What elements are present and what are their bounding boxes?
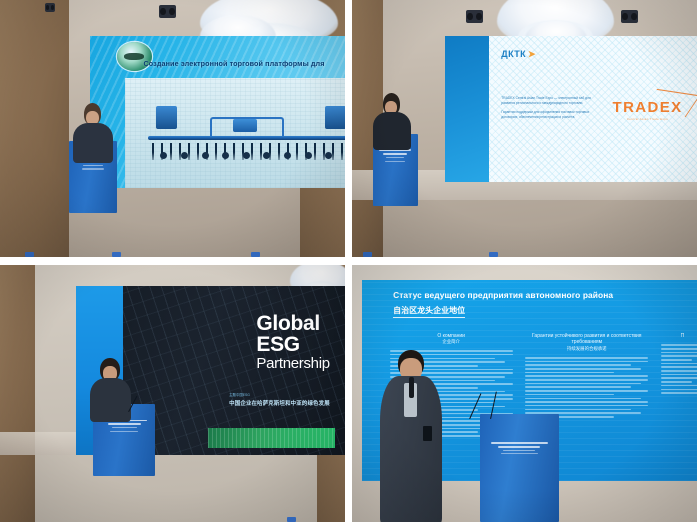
- column-heading-cn: 企业简介: [390, 339, 513, 345]
- screen-side-panel: [445, 36, 488, 182]
- slide-accent-bar: [208, 428, 335, 448]
- podium-plate: [102, 420, 147, 444]
- subtitle-small-cn: 主题中国ESG: [229, 392, 330, 397]
- wood-wall-panel-left: [0, 0, 69, 257]
- tradex-brand: TRADEX Central Asian Trade Expo: [613, 100, 683, 121]
- slide-title-cn: 自治区龙头企业地位: [393, 305, 465, 318]
- slide-subtitle: 主题中国ESG 中国企业在哈萨克斯坦和中亚的绿色发展: [229, 392, 330, 407]
- presentation-screen: ДКТК➤ TRADEX Central Asian Trade Expo — …: [445, 36, 697, 182]
- column-body-text: [525, 357, 648, 418]
- tradex-wordmark: TRADEX: [613, 100, 683, 115]
- dktk-logo-text: ДКТК: [501, 49, 526, 59]
- dktk-logo: ДКТК➤: [501, 49, 536, 60]
- speaker-box-icon: [159, 5, 176, 18]
- panel-bottom-left: Global ESG Partnership 主题中国ESG 中国企业在哈萨克斯…: [0, 265, 345, 522]
- slide-column: П: [661, 333, 697, 477]
- machine-toolbar: [148, 136, 345, 141]
- speaker-person: [90, 358, 131, 415]
- photo-collage: Создание электронной торговой платформы …: [0, 0, 697, 522]
- slide-title-ru: Статус ведущего предприятия автономного …: [393, 290, 697, 300]
- podium-plate: [491, 442, 548, 470]
- slide-body-line2: Гарантии поддержки для оформления постав…: [501, 110, 593, 120]
- speaker-person: [72, 103, 113, 160]
- panel-bottom-right: Статус ведущего предприятия автономного …: [352, 265, 697, 522]
- slide-body: TRADEX Central Asian Trade Expo — электр…: [501, 96, 593, 124]
- speaker-person: [373, 93, 411, 144]
- column-heading: П: [661, 333, 697, 340]
- podium-plate: [379, 149, 411, 173]
- handheld-microphone-icon: [409, 377, 413, 398]
- column-heading-ru: П: [681, 333, 685, 339]
- speaker-person: [380, 350, 442, 522]
- slide-body-line1: TRADEX Central Asian Trade Expo — электр…: [501, 96, 593, 106]
- panel-top-right: ДКТК➤ TRADEX Central Asian Trade Expo — …: [352, 0, 697, 257]
- speaker-box-icon: [45, 3, 55, 12]
- headline-line-1: Global: [256, 313, 329, 334]
- machine-hub: [233, 119, 258, 132]
- phone-icon: [423, 426, 432, 441]
- speaker-box-icon: [621, 10, 638, 23]
- column-heading: О компании 企业简介: [390, 333, 513, 346]
- column-body-text: [661, 344, 697, 394]
- slide-photo-field: [125, 78, 345, 187]
- speaker-box-icon: [466, 10, 483, 23]
- column-heading-ru: Гарантии устойчивого развития и соответс…: [532, 333, 642, 346]
- subtitle-cn: 中国企业在哈萨克斯坦和中亚的绿色发展: [229, 399, 330, 407]
- machine-wheel-right: [325, 106, 345, 129]
- podium: [480, 414, 559, 522]
- machine-wheel-left: [156, 106, 177, 129]
- slide-title-ru: Создание электронной торговой платформы …: [144, 59, 346, 68]
- panel-top-left: Создание электронной торговой платформы …: [0, 0, 345, 257]
- headline-line-2: ESG: [256, 334, 329, 355]
- column-heading-cn: 持续发展的合规承诺: [525, 346, 648, 352]
- farm-machinery-illustration: [148, 116, 345, 160]
- presentation-screen: Создание электронной торговой платформы …: [90, 36, 345, 188]
- tradex-tagline: Central Asian Trade Expo: [613, 117, 683, 121]
- headline-line-3: Partnership: [256, 356, 329, 371]
- slide-headline: Global ESG Partnership: [256, 313, 329, 372]
- slide-title: Статус ведущего предприятия автономного …: [393, 290, 697, 318]
- chevron-right-icon: ➤: [528, 49, 536, 60]
- column-heading-ru: О компании: [437, 333, 465, 339]
- column-heading: Гарантии устойчивого развития и соответс…: [525, 333, 648, 352]
- wood-wall-panel-left: [0, 265, 35, 522]
